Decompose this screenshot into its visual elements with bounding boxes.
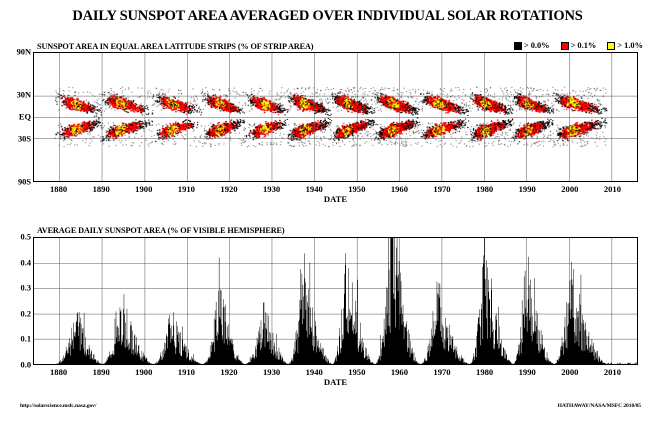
legend-item-2: > 1.0% xyxy=(607,41,643,50)
series-axis-title: DATE xyxy=(324,377,347,387)
series-xtick-1970: 1970 xyxy=(433,367,450,377)
cycle-number-12: 12 xyxy=(72,358,78,364)
series-xtick-1920: 1920 xyxy=(220,367,237,377)
butterfly-xtick-1960: 1960 xyxy=(391,184,408,194)
cycle-number-14: 14 xyxy=(167,358,173,364)
butterfly-xtick-1900: 1900 xyxy=(135,184,152,194)
cycle-number-22: 22 xyxy=(524,358,530,364)
butterfly-axis-title: DATE xyxy=(324,194,347,204)
cycle-number-18: 18 xyxy=(343,358,349,364)
series-xtick-1880: 1880 xyxy=(50,367,67,377)
series-xtick-1940: 1940 xyxy=(306,367,323,377)
butterfly-xtick-1930: 1930 xyxy=(263,184,280,194)
butterfly-xtick-1920: 1920 xyxy=(220,184,237,194)
butterfly-xtick-1910: 1910 xyxy=(178,184,195,194)
latitude-tick-90N: 90N xyxy=(17,48,31,57)
amplitude-tick-0.2: 0.2 xyxy=(21,309,31,318)
amplitude-tick-0.0: 0.0 xyxy=(21,361,31,370)
butterfly-xtick-2000: 2000 xyxy=(561,184,578,194)
butterfly-xtick-1980: 1980 xyxy=(476,184,493,194)
black-square-swatch xyxy=(514,42,522,50)
cycle-number-16: 16 xyxy=(262,358,268,364)
butterfly-xtick-1950: 1950 xyxy=(348,184,365,194)
cycle-number-20: 20 xyxy=(435,358,441,364)
series-xtick-1930: 1930 xyxy=(263,367,280,377)
butterfly-xtick-1990: 1990 xyxy=(519,184,536,194)
credit-line: HATHAWAY/NASA/MSFC 2010/05 xyxy=(558,403,641,409)
series-xtick-1980: 1980 xyxy=(476,367,493,377)
legend-item-0: > 0.0% xyxy=(514,41,550,50)
latitude-tick-EQ: EQ xyxy=(19,113,31,122)
page-title: DAILY SUNSPOT AREA AVERAGED OVER INDIVID… xyxy=(0,8,655,25)
butterfly-xtick-1880: 1880 xyxy=(50,184,67,194)
legend-label-0: > 0.0% xyxy=(524,41,550,50)
yellow-square-swatch xyxy=(607,42,615,50)
cycle-number-23: 23 xyxy=(568,358,574,364)
legend-item-1: > 0.1% xyxy=(561,41,597,50)
sunspot-figure: DAILY SUNSPOT AREA AVERAGED OVER INDIVID… xyxy=(0,0,655,421)
series-xtick-1990: 1990 xyxy=(519,367,536,377)
series-xtick-1950: 1950 xyxy=(348,367,365,377)
amplitude-tick-0.1: 0.1 xyxy=(21,335,31,344)
series-xtick-1910: 1910 xyxy=(178,367,195,377)
series-xtick-1890: 1890 xyxy=(93,367,110,377)
latitude-tick-90S: 90S xyxy=(18,178,31,187)
legend: > 0.0% > 0.1% > 1.0% xyxy=(514,41,643,50)
butterfly-canvas xyxy=(34,53,637,181)
cycle-number-21: 21 xyxy=(481,358,487,364)
latitude-tick-30N: 30N xyxy=(17,91,31,100)
cycle-number-15: 15 xyxy=(216,358,222,364)
butterfly-panel-title: SUNSPOT AREA IN EQUAL AREA LATITUDE STRI… xyxy=(37,42,313,51)
series-xtick-1900: 1900 xyxy=(135,367,152,377)
butterfly-xtick-2010: 2010 xyxy=(604,184,621,194)
series-xtick-2000: 2000 xyxy=(561,367,578,377)
legend-label-1: > 0.1% xyxy=(571,41,597,50)
series-panel-title: AVERAGE DAILY SUNSPOT AREA (% OF VISIBLE… xyxy=(37,226,285,235)
series-plot-area xyxy=(33,237,638,365)
amplitude-tick-0.3: 0.3 xyxy=(21,284,31,293)
red-square-swatch xyxy=(561,42,569,50)
amplitude-tick-0.5: 0.5 xyxy=(21,233,31,242)
amplitude-tick-0.4: 0.4 xyxy=(21,258,31,267)
butterfly-plot-area xyxy=(33,52,638,182)
series-canvas xyxy=(34,238,637,364)
cycle-number-13: 13 xyxy=(116,358,122,364)
series-xtick-2010: 2010 xyxy=(604,367,621,377)
legend-label-2: > 1.0% xyxy=(617,41,643,50)
butterfly-xtick-1890: 1890 xyxy=(93,184,110,194)
cycle-number-19: 19 xyxy=(389,358,395,364)
cycle-number-17: 17 xyxy=(300,358,306,364)
latitude-tick-30S: 30S xyxy=(18,134,31,143)
butterfly-xtick-1970: 1970 xyxy=(433,184,450,194)
butterfly-xtick-1940: 1940 xyxy=(306,184,323,194)
source-url: http://solarscience.msfc.nasa.gov/ xyxy=(20,403,96,409)
series-xtick-1960: 1960 xyxy=(391,367,408,377)
